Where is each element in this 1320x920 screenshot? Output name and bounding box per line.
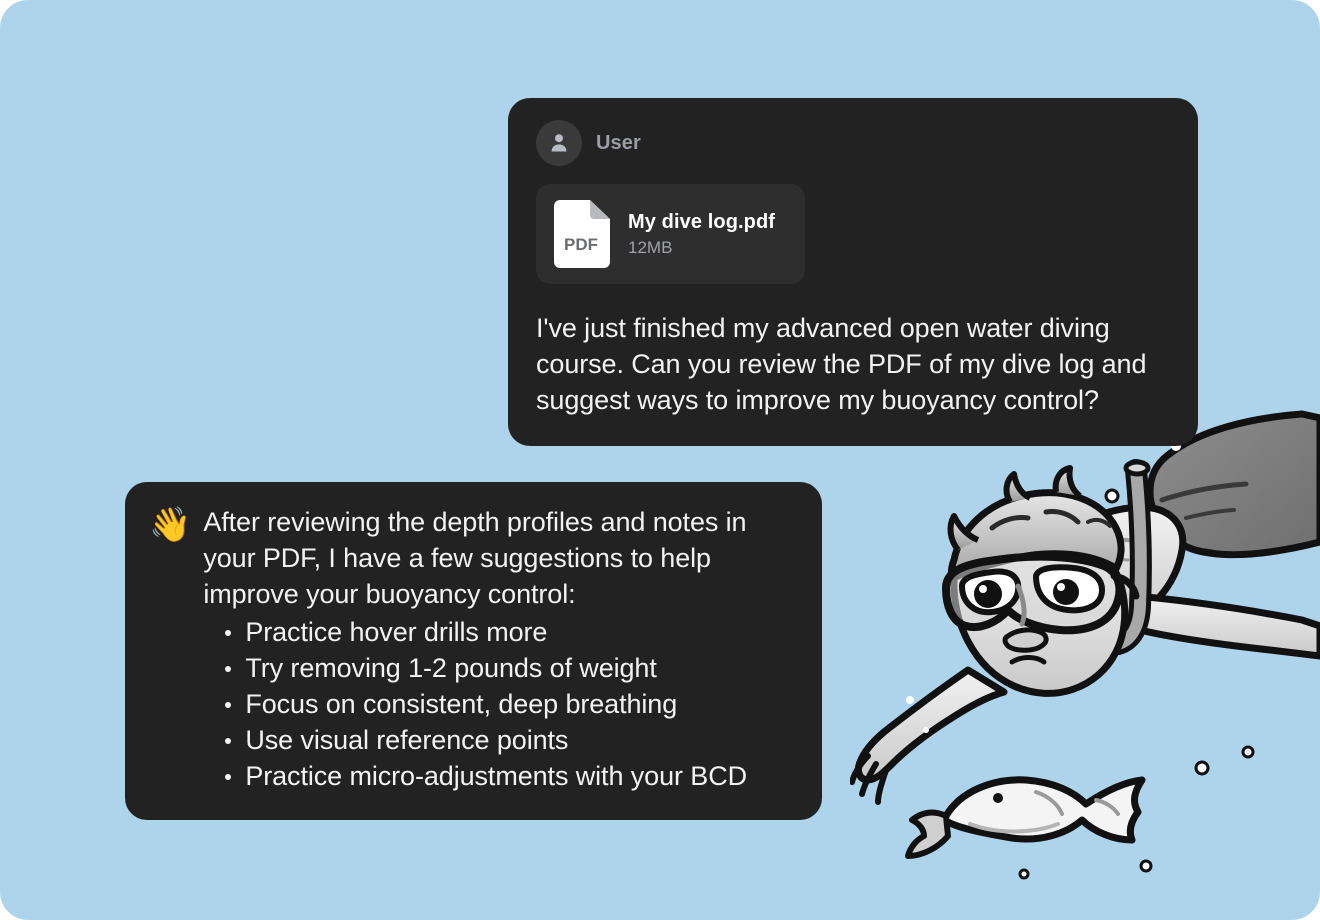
list-item: Try removing 1-2 pounds of weight: [221, 650, 796, 686]
user-message-text: I've just finished my advanced open wate…: [536, 310, 1172, 418]
assistant-message-bubble: 👋 After reviewing the depth profiles and…: [125, 482, 822, 820]
person-avatar-icon: [536, 120, 582, 166]
list-item: Focus on consistent, deep breathing: [221, 686, 796, 722]
suggestion-list: Practice hover drills more Try removing …: [203, 614, 796, 794]
waving-hand-emoji: 👋: [149, 506, 191, 544]
snorkeler-and-fish-illustration: [850, 400, 1320, 920]
attachment-chip[interactable]: PDF My dive log.pdf 12MB: [536, 184, 805, 284]
list-item: Use visual reference points: [221, 722, 796, 758]
svg-text:PDF: PDF: [564, 235, 598, 254]
list-item: Practice hover drills more: [221, 614, 796, 650]
assistant-intro-text: After reviewing the depth profiles and n…: [203, 504, 796, 612]
page-root: User PDF My dive log.pdf 12MB I've just …: [0, 0, 1320, 920]
attachment-size: 12MB: [628, 238, 775, 258]
user-message-bubble: User PDF My dive log.pdf 12MB I've just …: [508, 98, 1198, 446]
attachment-name: My dive log.pdf: [628, 211, 775, 234]
user-header: User: [536, 120, 1172, 166]
list-item: Practice micro-adjustments with your BCD: [221, 758, 796, 794]
attachment-meta: My dive log.pdf 12MB: [628, 211, 775, 258]
pdf-file-icon: PDF: [554, 200, 610, 268]
assistant-content: After reviewing the depth profiles and n…: [203, 504, 796, 794]
assistant-body: 👋 After reviewing the depth profiles and…: [149, 504, 796, 794]
user-name-label: User: [596, 132, 641, 155]
